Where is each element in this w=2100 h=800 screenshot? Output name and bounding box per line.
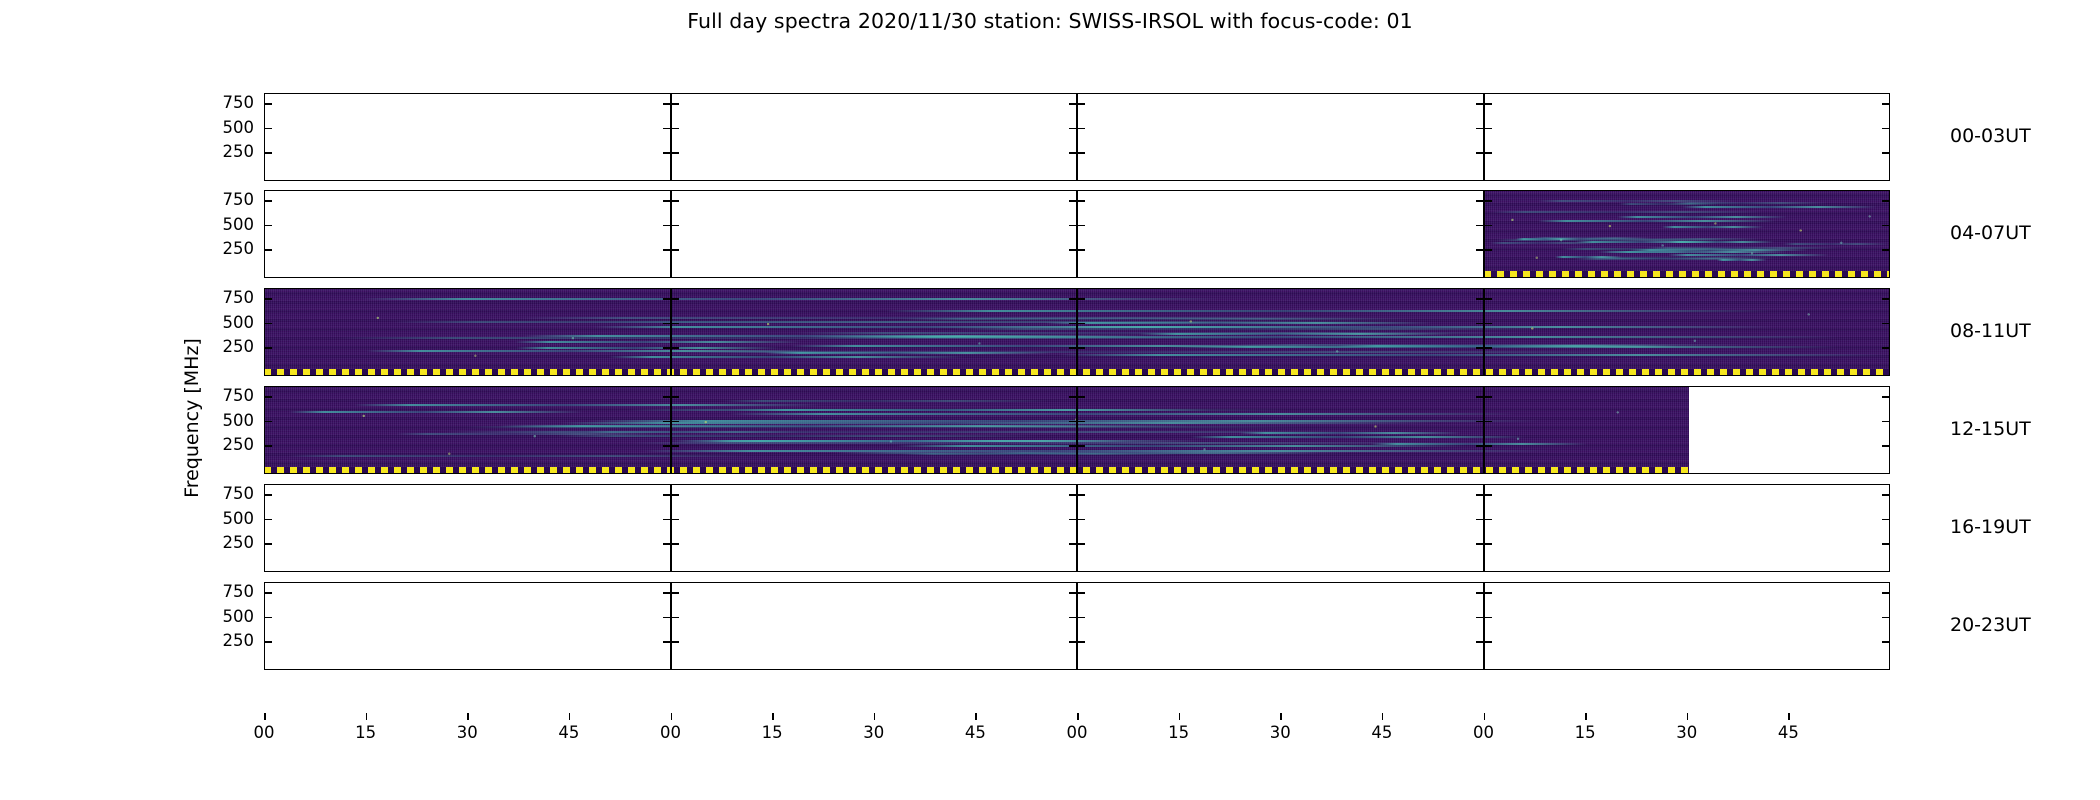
y-tick-mark (671, 347, 679, 349)
y-tick-mark (1077, 323, 1085, 325)
y-tick-mark (1882, 225, 1890, 227)
x-tick-label: 30 (1667, 723, 1707, 742)
y-tick-mark (1077, 445, 1085, 447)
y-tick-label: 250 (194, 142, 254, 161)
y-tick-mark (663, 592, 671, 594)
y-tick-mark (663, 421, 671, 423)
y-tick-mark (1069, 641, 1077, 643)
x-tick-label: 30 (447, 723, 487, 742)
y-tick-mark (671, 298, 679, 300)
y-tick-mark (1476, 347, 1484, 349)
y-tick-mark (671, 421, 679, 423)
y-tick-labels-row-12-15ut: 750500250 (188, 386, 254, 474)
y-tick-mark (1476, 519, 1484, 521)
y-tick-mark (1484, 298, 1492, 300)
y-tick-mark (264, 298, 272, 300)
y-tick-mark (1484, 421, 1492, 423)
y-tick-mark (264, 249, 272, 251)
x-tick-label: 30 (1260, 723, 1300, 742)
x-tick-mark (569, 713, 571, 720)
y-tick-mark (1069, 103, 1077, 105)
y-tick-label: 750 (194, 93, 254, 112)
y-tick-mark (264, 200, 272, 202)
hour-divider (1076, 93, 1078, 181)
y-tick-mark (1882, 641, 1890, 643)
hour-divider (1076, 386, 1078, 474)
hour-divider (670, 582, 672, 670)
y-tick-label: 750 (194, 582, 254, 601)
hour-divider (1483, 190, 1485, 278)
y-tick-mark (1484, 128, 1492, 130)
y-tick-mark (1069, 592, 1077, 594)
y-tick-mark (663, 347, 671, 349)
y-tick-mark (663, 225, 671, 227)
hour-divider (1483, 484, 1485, 572)
y-tick-mark (1069, 225, 1077, 227)
y-tick-mark (1069, 617, 1077, 619)
y-tick-mark (1882, 617, 1890, 619)
y-tick-mark (1882, 200, 1890, 202)
y-tick-mark (264, 152, 272, 154)
y-tick-mark (1882, 396, 1890, 398)
y-tick-mark (1069, 421, 1077, 423)
y-tick-mark (663, 519, 671, 521)
row-time-label-20-23ut: 20-23UT (1950, 614, 2031, 636)
x-tick-label: 00 (1057, 723, 1097, 742)
y-tick-mark (671, 249, 679, 251)
y-tick-mark (1882, 543, 1890, 545)
y-tick-mark (1882, 103, 1890, 105)
y-tick-mark (1069, 128, 1077, 130)
y-tick-mark (264, 396, 272, 398)
x-tick-mark (1484, 713, 1486, 720)
y-tick-mark (264, 519, 272, 521)
x-tick-mark (1280, 713, 1282, 720)
y-tick-mark (663, 641, 671, 643)
row-time-label-04-07ut: 04-07UT (1950, 222, 2031, 244)
y-tick-mark (264, 347, 272, 349)
y-tick-mark (1077, 617, 1085, 619)
x-tick-label: 00 (651, 723, 691, 742)
y-tick-mark (1077, 200, 1085, 202)
x-tick-label: 15 (346, 723, 386, 742)
y-tick-mark (1882, 128, 1890, 130)
y-tick-mark (1484, 225, 1492, 227)
y-tick-mark (1077, 103, 1085, 105)
y-tick-mark (663, 298, 671, 300)
x-tick-label: 15 (752, 723, 792, 742)
y-tick-mark (671, 396, 679, 398)
x-tick-mark (1077, 713, 1079, 720)
subplot-row-16-19ut (264, 484, 1890, 572)
row-time-label-08-11ut: 08-11UT (1950, 320, 2031, 342)
y-tick-label: 500 (194, 313, 254, 332)
x-tick-label: 15 (1159, 723, 1199, 742)
x-tick-mark (1382, 713, 1384, 720)
hour-divider (670, 484, 672, 572)
x-axis: 00153045001530450015304500153045 (264, 713, 1890, 753)
hour-divider (1483, 288, 1485, 376)
subplot-row-00-03ut (264, 93, 1890, 181)
y-tick-mark (1077, 641, 1085, 643)
y-tick-mark (264, 421, 272, 423)
y-tick-mark (1077, 225, 1085, 227)
y-tick-mark (264, 543, 272, 545)
y-tick-mark (1484, 323, 1492, 325)
y-tick-mark (264, 323, 272, 325)
y-tick-mark (1476, 445, 1484, 447)
y-tick-mark (1484, 641, 1492, 643)
y-tick-mark (1476, 298, 1484, 300)
y-tick-mark (1882, 445, 1890, 447)
x-tick-mark (772, 713, 774, 720)
hour-divider (1076, 484, 1078, 572)
y-tick-mark (671, 617, 679, 619)
y-tick-mark (663, 200, 671, 202)
y-tick-label: 500 (194, 118, 254, 137)
subplot-row-20-23ut (264, 582, 1890, 670)
y-tick-mark (1069, 298, 1077, 300)
y-tick-mark (1476, 421, 1484, 423)
y-tick-mark (264, 128, 272, 130)
y-tick-mark (1077, 298, 1085, 300)
row-time-label-00-03ut: 00-03UT (1950, 125, 2031, 147)
subplot-row-12-15ut (264, 386, 1890, 474)
y-tick-mark (1484, 347, 1492, 349)
y-tick-mark (1069, 323, 1077, 325)
x-tick-mark (1788, 713, 1790, 720)
y-tick-mark (1069, 347, 1077, 349)
y-tick-mark (1069, 249, 1077, 251)
y-tick-label: 750 (194, 386, 254, 405)
x-tick-label: 00 (1464, 723, 1504, 742)
y-tick-mark (1882, 347, 1890, 349)
x-tick-label: 45 (1768, 723, 1808, 742)
y-tick-mark (663, 128, 671, 130)
y-tick-mark (1476, 200, 1484, 202)
y-tick-mark (1476, 396, 1484, 398)
y-tick-mark (1077, 592, 1085, 594)
x-tick-label: 45 (955, 723, 995, 742)
hour-divider (1483, 93, 1485, 181)
y-tick-mark (1069, 152, 1077, 154)
y-tick-mark (671, 494, 679, 496)
y-tick-mark (264, 641, 272, 643)
y-tick-label: 750 (194, 288, 254, 307)
y-tick-mark (1476, 323, 1484, 325)
y-tick-mark (1077, 519, 1085, 521)
y-tick-mark (671, 152, 679, 154)
y-tick-label: 500 (194, 215, 254, 234)
y-tick-mark (264, 494, 272, 496)
y-tick-mark (671, 445, 679, 447)
subplot-row-08-11ut (264, 288, 1890, 376)
y-tick-label: 250 (194, 533, 254, 552)
y-tick-mark (1077, 128, 1085, 130)
y-tick-mark (1077, 543, 1085, 545)
x-tick-mark (366, 713, 368, 720)
y-tick-label: 750 (194, 190, 254, 209)
hour-divider (670, 386, 672, 474)
x-tick-mark (671, 713, 673, 720)
y-tick-mark (1476, 617, 1484, 619)
y-tick-mark (663, 396, 671, 398)
y-tick-mark (1476, 543, 1484, 545)
y-tick-mark (1476, 225, 1484, 227)
x-tick-mark (975, 713, 977, 720)
x-tick-mark (1585, 713, 1587, 720)
x-tick-label: 15 (1565, 723, 1605, 742)
y-tick-label: 750 (194, 484, 254, 503)
y-tick-mark (1476, 103, 1484, 105)
y-tick-mark (1476, 494, 1484, 496)
y-tick-label: 250 (194, 337, 254, 356)
figure-canvas: Full day spectra 2020/11/30 station: SWI… (0, 0, 2100, 800)
hour-divider (670, 190, 672, 278)
y-tick-mark (1476, 592, 1484, 594)
y-tick-mark (1484, 200, 1492, 202)
y-tick-label: 500 (194, 509, 254, 528)
y-tick-label: 250 (194, 435, 254, 454)
row-time-label-16-19ut: 16-19UT (1950, 516, 2031, 538)
hour-divider (1483, 386, 1485, 474)
y-tick-mark (1882, 323, 1890, 325)
y-tick-label: 250 (194, 631, 254, 650)
y-tick-mark (1077, 152, 1085, 154)
y-tick-mark (671, 103, 679, 105)
y-tick-mark (1882, 519, 1890, 521)
y-tick-mark (1484, 543, 1492, 545)
y-tick-mark (663, 103, 671, 105)
y-tick-mark (671, 200, 679, 202)
y-tick-label: 250 (194, 239, 254, 258)
y-tick-mark (264, 592, 272, 594)
row-time-label-12-15ut: 12-15UT (1950, 418, 2031, 440)
y-tick-mark (663, 494, 671, 496)
y-tick-mark (1476, 641, 1484, 643)
y-tick-mark (264, 445, 272, 447)
y-tick-mark (1484, 592, 1492, 594)
y-tick-mark (1077, 347, 1085, 349)
y-tick-labels-row-08-11ut: 750500250 (188, 288, 254, 376)
hour-divider (1076, 582, 1078, 670)
y-tick-mark (671, 519, 679, 521)
y-tick-mark (1484, 103, 1492, 105)
y-tick-labels-row-00-03ut: 750500250 (188, 93, 254, 181)
y-tick-label: 500 (194, 411, 254, 430)
x-tick-mark (467, 713, 469, 720)
subplot-row-04-07ut (264, 190, 1890, 278)
y-tick-mark (1069, 396, 1077, 398)
x-tick-label: 45 (549, 723, 589, 742)
y-tick-mark (264, 103, 272, 105)
hour-divider (1076, 288, 1078, 376)
y-tick-mark (1484, 445, 1492, 447)
y-tick-mark (1484, 249, 1492, 251)
x-tick-label: 30 (854, 723, 894, 742)
x-tick-mark (874, 713, 876, 720)
y-tick-mark (671, 225, 679, 227)
y-tick-mark (264, 617, 272, 619)
hour-divider (1076, 190, 1078, 278)
y-tick-mark (671, 641, 679, 643)
hour-divider (1483, 582, 1485, 670)
y-tick-mark (663, 323, 671, 325)
y-tick-mark (1476, 249, 1484, 251)
y-tick-label: 500 (194, 607, 254, 626)
y-tick-mark (1484, 396, 1492, 398)
y-tick-mark (1882, 421, 1890, 423)
y-tick-mark (1484, 617, 1492, 619)
y-tick-mark (1077, 421, 1085, 423)
hour-divider (670, 288, 672, 376)
x-tick-label: 45 (1362, 723, 1402, 742)
y-tick-mark (663, 249, 671, 251)
y-tick-mark (264, 225, 272, 227)
y-tick-mark (1069, 200, 1077, 202)
y-tick-mark (1069, 494, 1077, 496)
y-tick-mark (671, 543, 679, 545)
y-tick-labels-row-16-19ut: 750500250 (188, 484, 254, 572)
y-tick-mark (671, 128, 679, 130)
y-tick-mark (1882, 592, 1890, 594)
y-tick-mark (1069, 519, 1077, 521)
x-tick-label: 00 (244, 723, 284, 742)
x-tick-mark (1687, 713, 1689, 720)
hour-divider (670, 93, 672, 181)
y-tick-labels-row-20-23ut: 750500250 (188, 582, 254, 670)
y-tick-mark (663, 543, 671, 545)
y-tick-mark (671, 323, 679, 325)
y-tick-mark (1484, 519, 1492, 521)
y-tick-mark (1077, 494, 1085, 496)
x-tick-mark (264, 713, 266, 720)
y-tick-mark (1882, 152, 1890, 154)
y-tick-mark (1069, 445, 1077, 447)
y-tick-mark (1069, 543, 1077, 545)
y-tick-mark (663, 152, 671, 154)
x-tick-mark (1179, 713, 1181, 720)
y-tick-labels-row-04-07ut: 750500250 (188, 190, 254, 278)
y-tick-mark (1077, 396, 1085, 398)
y-tick-mark (663, 445, 671, 447)
y-tick-mark (1882, 298, 1890, 300)
y-tick-mark (663, 617, 671, 619)
y-tick-mark (1484, 152, 1492, 154)
y-tick-mark (1476, 128, 1484, 130)
page-title: Full day spectra 2020/11/30 station: SWI… (0, 9, 2100, 33)
y-tick-mark (1484, 494, 1492, 496)
y-tick-mark (1476, 152, 1484, 154)
y-tick-mark (1882, 249, 1890, 251)
y-tick-mark (1882, 494, 1890, 496)
y-tick-mark (1077, 249, 1085, 251)
y-tick-mark (671, 592, 679, 594)
